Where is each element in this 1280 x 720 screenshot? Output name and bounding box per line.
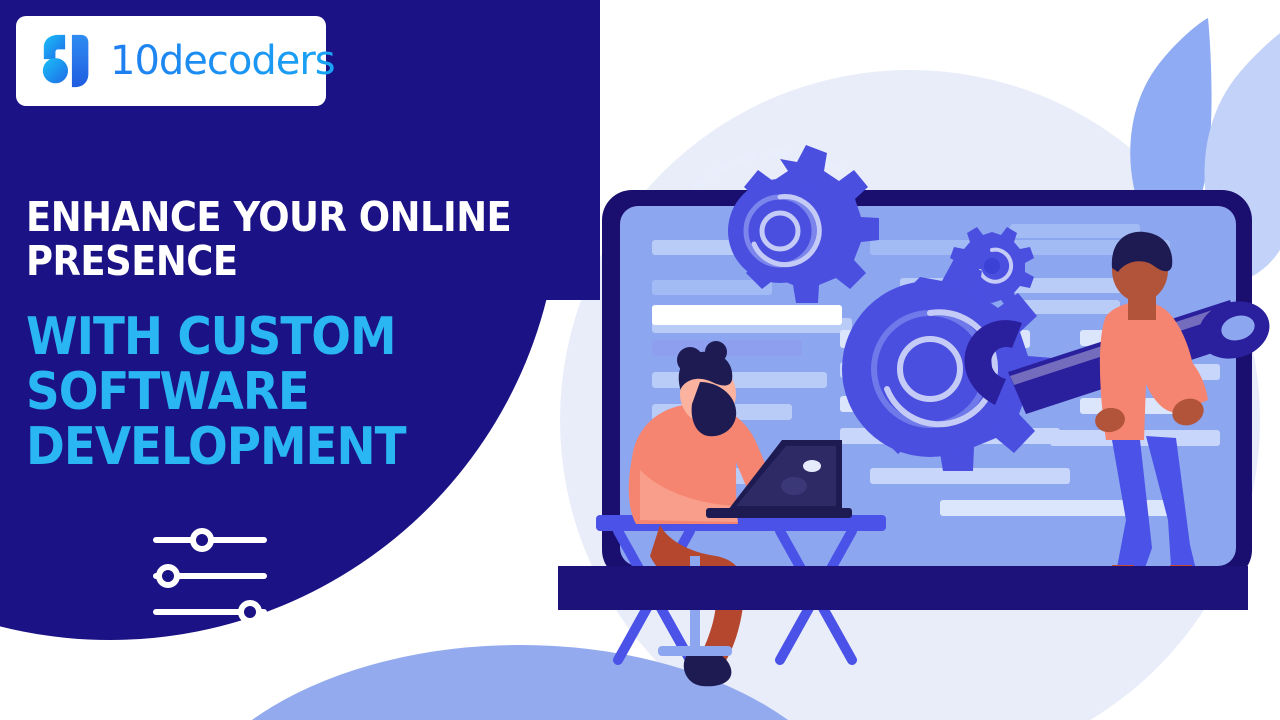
headline-line-5: DEVELOPMENT	[26, 420, 546, 475]
headline-line-2: PRESENCE	[26, 240, 546, 284]
headline-line-4: SOFTWARE	[26, 365, 546, 420]
logo-card[interactable]: 10decoders	[16, 16, 326, 106]
headline-line-1: ENHANCE YOUR ONLINE	[26, 196, 546, 240]
illustration-artwork	[540, 0, 1280, 720]
headline-line-3: WITH CUSTOM	[26, 310, 546, 365]
slider-handle-2	[159, 567, 177, 585]
logo-wordmark: 10decoders	[110, 41, 335, 81]
headline-block: ENHANCE YOUR ONLINE PRESENCE WITH CUSTOM…	[26, 196, 546, 475]
headline-accent-group: WITH CUSTOM SOFTWARE DEVELOPMENT	[26, 310, 546, 475]
settings-sliders-icon[interactable]	[152, 528, 268, 624]
slider-handle-1	[193, 531, 211, 549]
laptop-base	[558, 566, 1248, 610]
slider-handle-3	[241, 603, 259, 621]
marketing-banner: 10decoders ENHANCE YOUR ONLINE PRESENCE …	[0, 0, 1280, 720]
decoders-monogram-icon	[38, 30, 100, 92]
